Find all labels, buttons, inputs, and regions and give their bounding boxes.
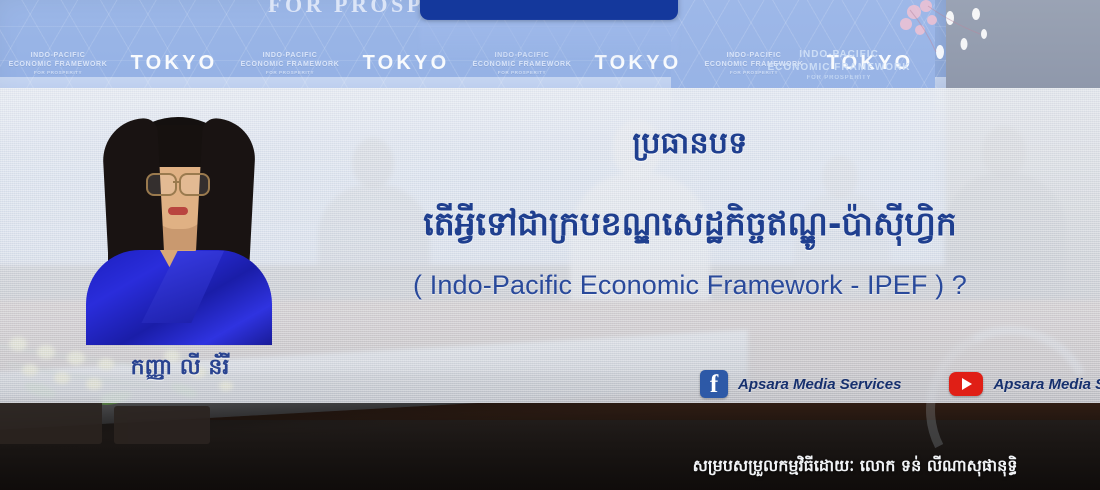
- facebook-glyph: f: [710, 371, 718, 398]
- presenter-photo: [78, 95, 278, 345]
- ipef-logo-line1: INDO-PACIFIC: [799, 49, 879, 60]
- glasses-lens-right: [179, 173, 210, 196]
- youtube-icon[interactable]: [949, 372, 983, 396]
- sub-title-english: ( Indo-Pacific Economic Framework - IPEF…: [380, 270, 1000, 301]
- social-bar: f Apsara Media Services Apsara Media Ser…: [700, 370, 1100, 398]
- glasses-lens-left: [146, 173, 177, 196]
- video-frame: FOR PROSPERITY INDO-PACIFICECONOMIC FRAM…: [0, 0, 1100, 490]
- facebook-icon[interactable]: f: [700, 370, 728, 398]
- podium-sign-reflection: [420, 22, 678, 62]
- program-credit: សម្របសម្រួលកម្មវិធីដោយៈ លោក ទន់ លីណាសុផា…: [620, 455, 1090, 479]
- glasses-bridge: [173, 181, 181, 183]
- youtube-channel-label: Apsara Media Services: [993, 376, 1100, 393]
- facebook-page-label: Apsara Media Services: [738, 376, 901, 393]
- main-title: តើអ្វីទៅជាក្របខណ្ឌសេដ្ឋកិច្ចឥណ្ឌូ-ប៉ាស៊ី…: [365, 206, 1015, 243]
- topic-label: ប្រធានបទ: [380, 124, 1000, 168]
- presenter-lips: [168, 207, 188, 215]
- play-triangle-icon: [962, 378, 972, 390]
- podium-sign: [420, 0, 678, 20]
- presenter-name: កញ្ញា លី ន័រី: [60, 353, 300, 385]
